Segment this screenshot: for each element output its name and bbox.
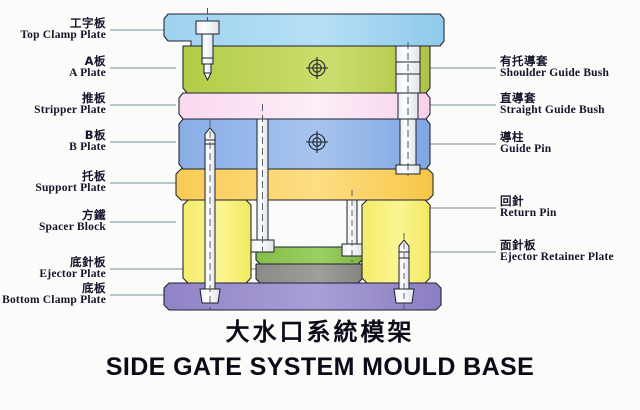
plate-spacer-block-left [183,200,251,283]
label-a-plate: A板 A Plate [0,55,106,79]
diagram-canvas: 工字板 Top Clamp Plate A板 A Plate 推板 Stripp… [0,0,640,410]
label-cn: 托板 [0,170,106,182]
label-en: Stripper Plate [0,104,106,116]
label-en: Bottom Clamp Plate [0,294,106,306]
label-en: A Plate [0,67,106,79]
label-en: B Plate [0,141,106,153]
plate-stripper-plate [179,93,430,119]
label-b-plate: B板 B Plate [0,129,106,153]
label-cn: 有托導套 [500,55,609,67]
label-en: Guide Pin [500,143,551,155]
label-cn: 推板 [0,92,106,104]
label-cn: 導柱 [500,131,551,143]
plate-ejector-plate [256,264,362,283]
label-en: Top Clamp Plate [0,29,106,41]
label-cn: 面針板 [500,239,614,251]
label-straight-guide-bush: 直導套 Straight Guide Bush [500,92,605,116]
label-en: Ejector Plate [0,268,106,280]
diagram-title-block: 大水口系統模架 SIDE GATE SYSTEM MOULD BASE [0,312,640,382]
return-pin [342,190,362,262]
label-ejector-plate: 底針板 Ejector Plate [0,256,106,280]
label-ejector-retainer-plate: 面針板 Ejector Retainer Plate [500,239,614,263]
label-en: Straight Guide Bush [500,104,605,116]
label-cn: B板 [0,129,106,141]
label-cn: 工字板 [0,17,106,29]
label-cn: A板 [0,55,106,67]
label-cn: 方鐵 [0,209,106,221]
plate-a-plate [183,46,430,93]
plate-spacer-block-right [362,200,430,283]
label-en: Shoulder Guide Bush [500,67,609,79]
label-en: Return Pin [500,207,557,219]
label-top-clamp-plate: 工字板 Top Clamp Plate [0,17,106,41]
label-en: Support Plate [0,182,106,194]
plate-b-plate [179,119,430,169]
label-cn: 底板 [0,282,106,294]
label-shoulder-guide-bush: 有托導套 Shoulder Guide Bush [500,55,609,79]
label-cn: 回針 [500,195,557,207]
label-en: Spacer Block [0,221,106,233]
label-spacer-block: 方鐵 Spacer Block [0,209,106,233]
label-return-pin: 回針 Return Pin [500,195,557,219]
label-support-plate: 托板 Support Plate [0,170,106,194]
label-cn: 直導套 [500,92,605,104]
straight-guide-bush [398,93,418,119]
label-cn: 底針板 [0,256,106,268]
title-english: SIDE GATE SYSTEM MOULD BASE [0,353,640,382]
label-guide-pin: 導柱 Guide Pin [500,131,551,155]
label-stripper-plate: 推板 Stripper Plate [0,92,106,116]
label-en: Ejector Retainer Plate [500,251,614,263]
title-chinese: 大水口系統模架 [0,312,640,347]
label-bottom-clamp-plate: 底板 Bottom Clamp Plate [0,282,106,306]
